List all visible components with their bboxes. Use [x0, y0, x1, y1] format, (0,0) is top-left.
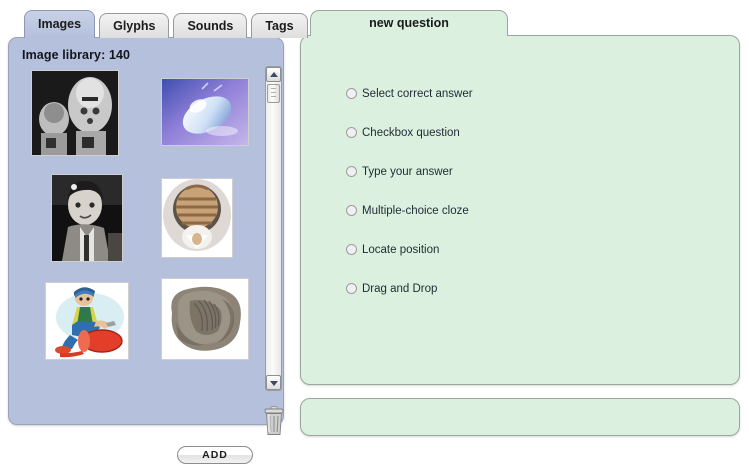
thumb-robot-photo[interactable] [31, 70, 119, 156]
image-library-panel: Images Glyphs Sounds Tags Image library:… [8, 10, 284, 425]
question-panel-body: Select correct answer Checkbox question … [300, 35, 740, 385]
question-type-label: Drag and Drop [362, 283, 437, 295]
tab-glyphs[interactable]: Glyphs [99, 13, 169, 38]
library-title: Image library: 140 [22, 48, 130, 62]
scrollbar-thumb[interactable] [267, 84, 280, 103]
question-type-select-correct-answer[interactable]: Select correct answer [346, 84, 686, 103]
question-type-locate-position[interactable]: Locate position [346, 240, 686, 259]
answer-area-panel[interactable] [300, 398, 740, 436]
question-type-label: Type your answer [362, 166, 453, 178]
question-tabstrip: new question [310, 10, 508, 36]
radio-icon[interactable] [346, 205, 357, 216]
question-type-label: Multiple-choice cloze [362, 205, 469, 217]
question-type-drag-and-drop[interactable]: Drag and Drop [346, 279, 686, 298]
radio-icon[interactable] [346, 283, 357, 294]
thumbnail-grid [31, 70, 247, 388]
scroll-up-arrow-icon[interactable] [266, 67, 281, 82]
tab-sounds[interactable]: Sounds [173, 13, 247, 38]
tab-images[interactable]: Images [24, 10, 95, 38]
trash-icon[interactable] [263, 406, 285, 436]
new-question-panel: new question Select correct answer Check… [300, 10, 740, 385]
scroll-down-arrow-icon[interactable] [266, 375, 281, 390]
radio-icon[interactable] [346, 127, 357, 138]
question-type-label: Checkbox question [362, 127, 460, 139]
library-scrollbar[interactable] [265, 66, 282, 391]
question-type-multiple-choice-cloze[interactable]: Multiple-choice cloze [346, 201, 686, 220]
radio-icon[interactable] [346, 166, 357, 177]
question-type-type-your-answer[interactable]: Type your answer [346, 162, 686, 181]
library-panel-body: Image library: 140 [8, 37, 284, 425]
question-type-label: Select correct answer [362, 88, 473, 100]
add-button[interactable]: ADD [177, 446, 253, 464]
question-type-checkbox-question[interactable]: Checkbox question [346, 123, 686, 142]
tab-tags[interactable]: Tags [251, 13, 307, 38]
thumb-fossil-rock[interactable] [161, 278, 249, 360]
library-tabstrip: Images Glyphs Sounds Tags [24, 10, 312, 38]
question-type-label: Locate position [362, 244, 439, 256]
tab-new-question[interactable]: new question [310, 10, 508, 36]
thumb-wig-specimen[interactable] [161, 178, 233, 258]
radio-icon[interactable] [346, 244, 357, 255]
thumb-portrait-photo[interactable] [51, 174, 123, 262]
thumb-computer-mouse[interactable] [161, 78, 249, 146]
question-type-list: Select correct answer Checkbox question … [346, 84, 686, 318]
radio-icon[interactable] [346, 88, 357, 99]
thumb-carpet-worker[interactable] [45, 282, 129, 360]
